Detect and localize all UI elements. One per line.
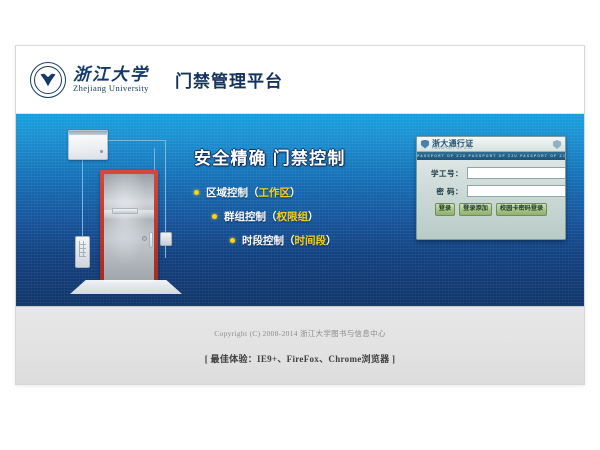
campus-card-login-button[interactable]: 校园卡密码登录	[496, 203, 547, 216]
page-title: 门禁管理平台	[175, 67, 283, 92]
wire-icon	[108, 140, 166, 141]
status-led-icon	[100, 150, 103, 153]
login-button-group: 登录 登录添加 校园卡密码登录	[425, 203, 557, 216]
door-leaf-icon	[104, 174, 154, 282]
feature-highlight: 时间段	[295, 233, 327, 248]
keypad-reader-icon	[75, 236, 90, 268]
userid-label: 学工号：	[425, 168, 463, 179]
door-frame-icon	[100, 170, 158, 282]
login-add-button[interactable]: 登录添加	[459, 203, 492, 216]
feature-text: 群组控制（	[224, 209, 277, 224]
bullet-dot-icon	[212, 214, 217, 219]
passport-watermark-strip: PASSPORT OF ZJU PASSPORT OF ZJU PASSPORT…	[417, 152, 565, 160]
login-form: 学工号： 密 码： 登录 登录添加 校园卡密码登录	[417, 160, 565, 222]
login-panel: 浙大通行证 PASSPORT OF ZJU PASSPORT OF ZJU PA…	[416, 136, 566, 240]
list-item: 区域控制（工作区）	[194, 185, 409, 200]
wire-icon	[82, 160, 83, 238]
list-item: 时段控制（时间段）	[230, 233, 409, 248]
login-button[interactable]: 登录	[435, 203, 455, 216]
hero-banner: 安全精确 门禁控制 区域控制（工作区） 群组控制（权限组） 时段控制（时间段）	[16, 114, 584, 306]
userid-row: 学工号：	[425, 167, 557, 179]
access-control-door-illustration	[50, 128, 190, 298]
university-name-en: Zhejiang University	[73, 83, 149, 93]
door-lock-icon	[142, 236, 147, 241]
shield-icon	[553, 140, 561, 149]
university-logo[interactable]: 浙江大学 Zhejiang University	[30, 62, 149, 98]
banner-copy: 安全精确 门禁控制 区域控制（工作区） 群组控制（权限组） 时段控制（时间段）	[194, 144, 409, 257]
feature-tail: ）	[290, 185, 301, 200]
password-input[interactable]	[467, 185, 566, 197]
feature-tail: ）	[326, 233, 337, 248]
login-panel-subtitle: PASSPORT OF ZJU	[432, 146, 472, 150]
feature-tail: ）	[308, 209, 319, 224]
card-reader-icon	[160, 232, 172, 246]
bullet-dot-icon	[194, 190, 199, 195]
door-handle-icon	[149, 232, 153, 248]
university-wordmark: 浙江大学 Zhejiang University	[73, 66, 149, 94]
banner-feature-list: 区域控制（工作区） 群组控制（权限组） 时段控制（时间段）	[194, 185, 409, 248]
feature-highlight: 权限组	[277, 209, 309, 224]
banner-headline: 安全精确 门禁控制	[194, 144, 409, 169]
password-row: 密 码：	[425, 185, 557, 197]
bullet-dot-icon	[230, 238, 235, 243]
browser-support-note: [ 最佳体验：IE9+、FireFox、Chrome浏览器 ]	[205, 352, 396, 365]
userid-input[interactable]	[467, 167, 566, 179]
site-header: 浙江大学 Zhejiang University 门禁管理平台	[16, 46, 584, 114]
copyright-text: Copyright (C) 2008-2014 浙江大学图书与信息中心	[214, 328, 386, 339]
university-name-cn: 浙江大学	[73, 66, 149, 84]
shield-icon	[421, 140, 429, 149]
list-item: 群组控制（权限组）	[212, 209, 409, 224]
floor-plate-icon	[70, 280, 182, 294]
controller-box-icon	[68, 130, 108, 160]
site-footer: Copyright (C) 2008-2014 浙江大学图书与信息中心 [ 最佳…	[16, 306, 584, 385]
page-frame: 浙江大学 Zhejiang University 门禁管理平台	[15, 45, 585, 385]
password-label: 密 码：	[425, 186, 463, 197]
door-closer-icon	[112, 208, 138, 214]
seal-bird-icon	[41, 73, 56, 86]
login-panel-titlebar: 浙大通行证 PASSPORT OF ZJU	[417, 137, 565, 152]
zju-seal-icon	[30, 62, 66, 98]
feature-text: 区域控制（	[206, 185, 259, 200]
feature-highlight: 工作区	[259, 185, 291, 200]
feature-text: 时段控制（	[242, 233, 295, 248]
